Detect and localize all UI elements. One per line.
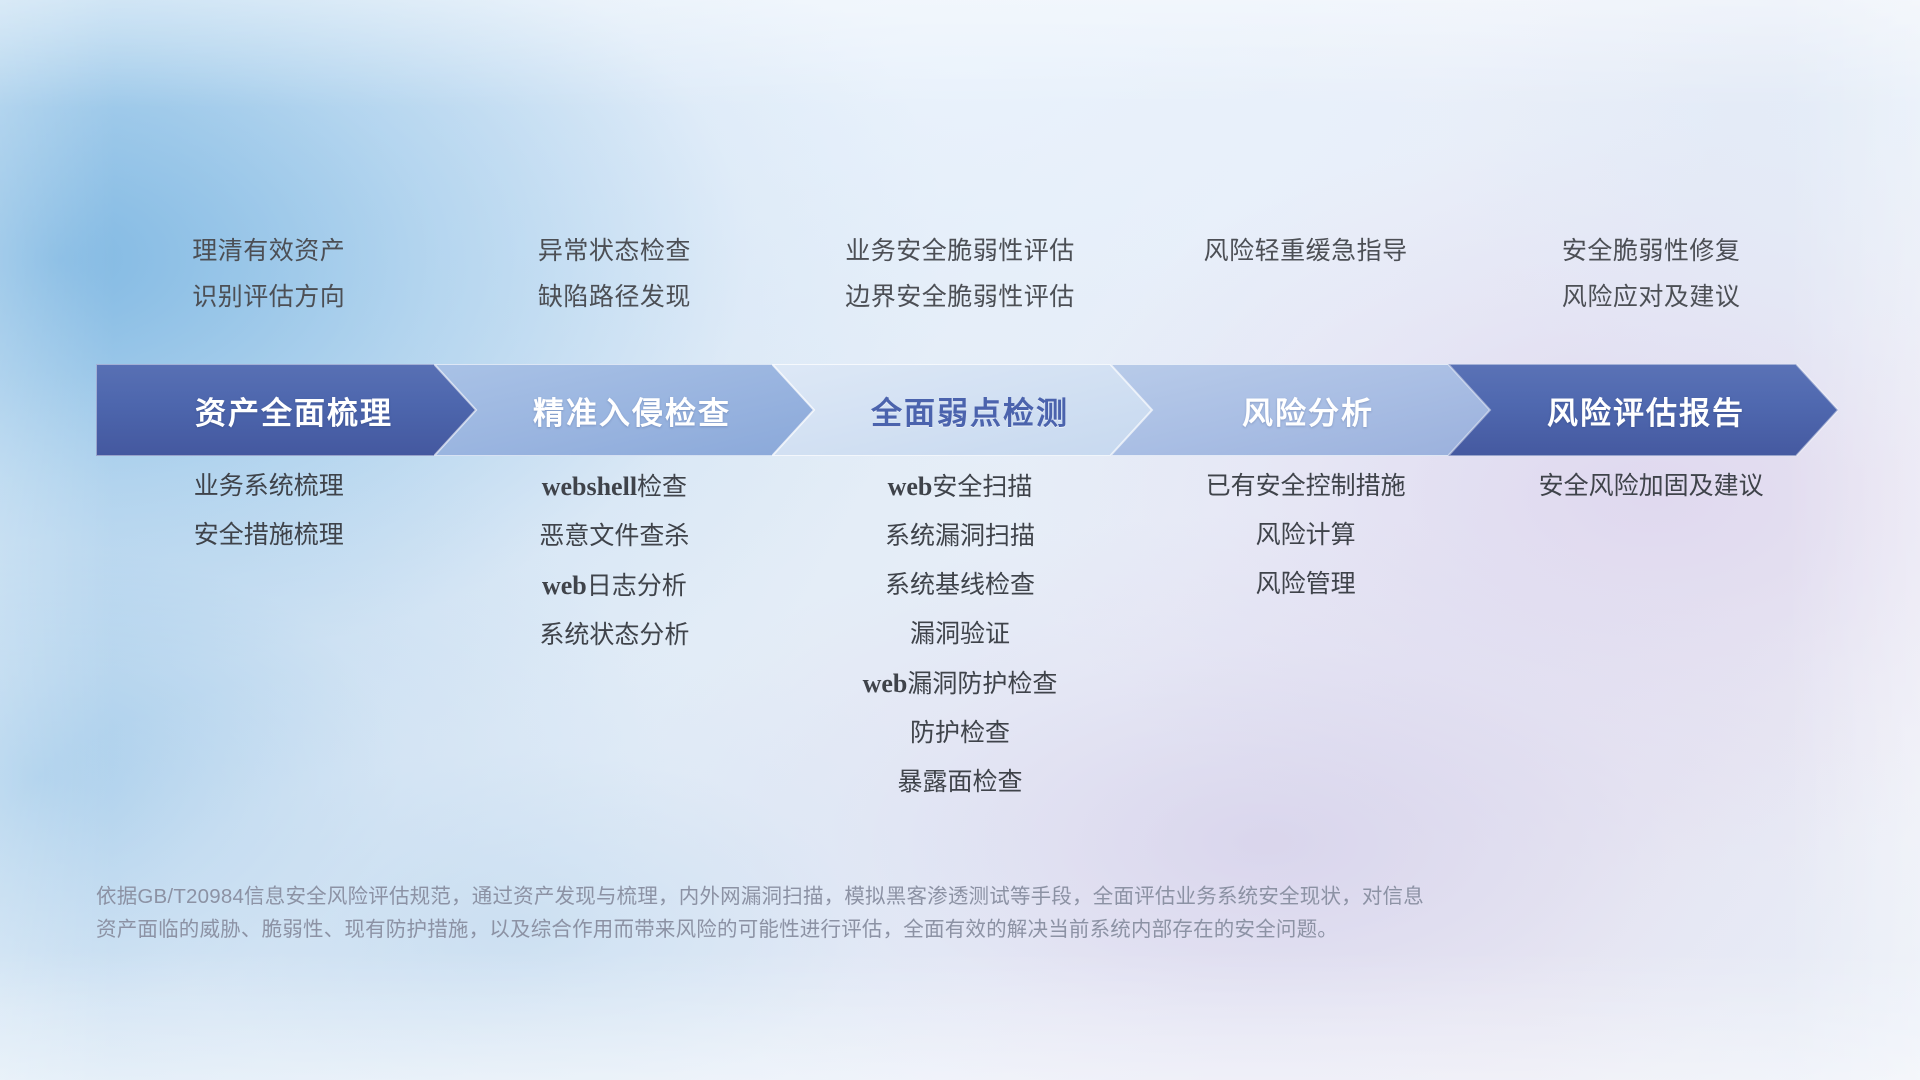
bottom-label: 安全措施梳理 <box>96 511 442 560</box>
slide-canvas: 理清有效资产 识别评估方向 异常状态检查 缺陷路径发现 业务安全脆弱性评估 边界… <box>0 0 1920 1080</box>
chevron-stage-3[interactable]: 全面弱点检测 <box>772 364 1162 456</box>
chevron-stage-5[interactable]: 风险评估报告 <box>1448 364 1838 456</box>
bottom-labels-col-3: web安全扫描 系统漏洞扫描 系统基线检查 漏洞验证 web漏洞防护检查 防护检… <box>787 462 1133 807</box>
top-labels-col-1: 理清有效资产 识别评估方向 <box>96 228 442 320</box>
top-label: 风险轻重缓急指导 <box>1133 228 1479 274</box>
chevron-stage-label: 风险分析 <box>1236 388 1374 433</box>
top-label: 理清有效资产 <box>96 228 442 274</box>
top-labels-col-2: 异常状态检查 缺陷路径发现 <box>442 228 788 320</box>
bottom-label-suffix: 检查 <box>637 473 687 501</box>
bottom-labels-row: 业务系统梳理 安全措施梳理 webshell检查 恶意文件查杀 web日志分析 … <box>96 462 1824 807</box>
bottom-label-suffix: 安全扫描 <box>932 473 1032 501</box>
top-label: 业务安全脆弱性评估 <box>787 228 1133 274</box>
bottom-label: 系统状态分析 <box>442 611 788 660</box>
bottom-label: 风险计算 <box>1133 511 1479 560</box>
bottom-label: 恶意文件查杀 <box>442 512 788 561</box>
chevron-stage-label: 风险评估报告 <box>1541 388 1745 433</box>
bottom-label: webshell检查 <box>442 462 788 512</box>
bottom-label: 业务系统梳理 <box>96 462 442 511</box>
bottom-label: 系统漏洞扫描 <box>787 512 1133 561</box>
top-label: 边界安全脆弱性评估 <box>787 274 1133 320</box>
bottom-label-suffix: 日志分析 <box>587 572 687 600</box>
bottom-label: 风险管理 <box>1133 560 1479 609</box>
bottom-label: web安全扫描 <box>787 462 1133 512</box>
bottom-label: 系统基线检查 <box>787 561 1133 610</box>
chevron-stage-label: 全面弱点检测 <box>865 388 1069 433</box>
top-label: 异常状态检查 <box>442 228 788 274</box>
top-labels-col-5: 安全脆弱性修复 风险应对及建议 <box>1478 228 1824 320</box>
bottom-labels-col-5: 安全风险加固及建议 <box>1478 462 1824 511</box>
bottom-labels-col-4: 已有安全控制措施 风险计算 风险管理 <box>1133 462 1479 609</box>
bottom-label: web漏洞防护检查 <box>787 659 1133 709</box>
footer-line-1: 依据GB/T20984信息安全风险评估规范，通过资产发现与梳理，内外网漏洞扫描，… <box>96 880 1616 913</box>
top-label: 缺陷路径发现 <box>442 274 788 320</box>
bottom-label-suffix: 漏洞防护检查 <box>907 670 1057 698</box>
top-label: 安全脆弱性修复 <box>1478 228 1824 274</box>
footer-description: 依据GB/T20984信息安全风险评估规范，通过资产发现与梳理，内外网漏洞扫描，… <box>96 880 1616 946</box>
chevron-stage-4[interactable]: 风险分析 <box>1110 364 1500 456</box>
top-label: 识别评估方向 <box>96 274 442 320</box>
bottom-label: web日志分析 <box>442 561 788 611</box>
top-labels-row: 理清有效资产 识别评估方向 异常状态检查 缺陷路径发现 业务安全脆弱性评估 边界… <box>96 228 1824 320</box>
bottom-label: 已有安全控制措施 <box>1133 462 1479 511</box>
process-chevron-bar: 资产全面梳理 <box>96 364 1824 456</box>
bottom-label: 漏洞验证 <box>787 610 1133 659</box>
top-labels-col-4: 风险轻重缓急指导 <box>1133 228 1479 320</box>
bottom-labels-col-1: 业务系统梳理 安全措施梳理 <box>96 462 442 560</box>
bottom-labels-col-2: webshell检查 恶意文件查杀 web日志分析 系统状态分析 <box>442 462 788 660</box>
chevron-stage-label: 资产全面梳理 <box>189 388 393 433</box>
top-labels-col-3: 业务安全脆弱性评估 边界安全脆弱性评估 <box>787 228 1133 320</box>
bottom-label: 暴露面检查 <box>787 758 1133 807</box>
chevron-stage-label: 精准入侵检查 <box>527 388 731 433</box>
chevron-stage-2[interactable]: 精准入侵检查 <box>434 364 824 456</box>
bottom-label: 安全风险加固及建议 <box>1478 462 1824 511</box>
bottom-label: 防护检查 <box>787 709 1133 758</box>
chevron-stage-1[interactable]: 资产全面梳理 <box>96 364 486 456</box>
footer-line-2: 资产面临的威胁、脆弱性、现有防护措施，以及综合作用而带来风险的可能性进行评估，全… <box>96 913 1616 946</box>
top-label: 风险应对及建议 <box>1478 274 1824 320</box>
